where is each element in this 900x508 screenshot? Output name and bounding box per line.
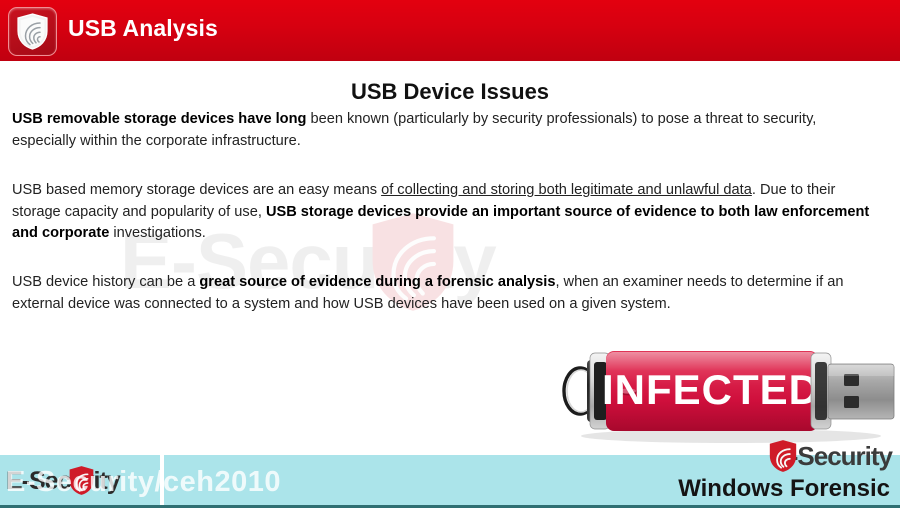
- header-bar: USB Analysis: [0, 0, 900, 61]
- paragraph-1: USB removable storage devices have long …: [12, 109, 876, 152]
- shield-swirl-icon: [768, 439, 798, 478]
- page-title: USB Analysis: [68, 15, 218, 42]
- footer-left-logo-text: E-Security: [6, 467, 120, 496]
- paragraph-2-run-5: investigations.: [109, 225, 206, 241]
- footer-divider: [160, 455, 164, 505]
- paragraph-2-run-1: USB based memory storage devices are an …: [12, 182, 381, 198]
- paragraph-3-bold-run: great source of evidence during a forens…: [199, 274, 555, 290]
- shield-swirl-icon: [68, 465, 95, 501]
- slide-title: USB Device Issues: [0, 79, 900, 105]
- paragraph-3-run-1: USB device history can be a: [12, 274, 199, 290]
- header-logo-tile: [8, 7, 57, 56]
- paragraph-1-bold-run: USB removable storage devices have long: [12, 111, 306, 127]
- footer-right-logo: E-Security: [652, 441, 892, 475]
- paragraph-2: USB based memory storage devices are an …: [12, 180, 876, 245]
- footer-left-logo: E-Security: [6, 465, 156, 499]
- paragraph-2-underlined-run: of collecting and storing both legitimat…: [381, 182, 752, 198]
- footer-subtitle: Windows Forensic: [678, 475, 890, 503]
- footer-bar: E-Security E-Security: [0, 455, 900, 508]
- paragraph-3: USB device history can be a great source…: [12, 272, 876, 315]
- usb-flash-drive-image: INFECTED: [556, 338, 900, 446]
- usb-infected-label: INFECTED: [602, 366, 820, 413]
